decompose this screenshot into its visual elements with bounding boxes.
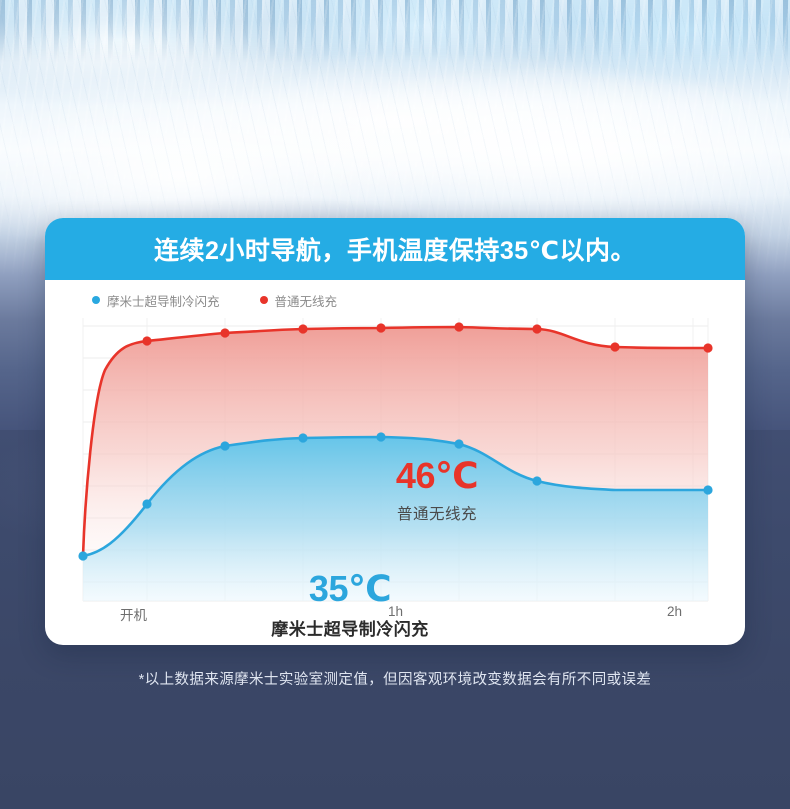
chart-x-axis: 开机 1h 2h (45, 604, 745, 634)
x-tick-label-2h: 2h (667, 604, 682, 619)
banner-header: 连续2小时导航，手机温度保持35℃以内。 (45, 218, 745, 280)
legend-label-red: 普通无线充 (275, 291, 338, 310)
legend-item-blue[interactable]: 摩米士超导制冷闪充 (92, 291, 220, 310)
chart-card: 连续2小时导航，手机温度保持35℃以内。 摩米士超导制冷闪充 普通无线充 (45, 218, 745, 645)
banner-title: 连续2小时导航，手机温度保持35℃以内。 (154, 231, 636, 267)
legend-dot-icon-blue (92, 296, 100, 304)
x-tick-label-start: 开机 (120, 604, 147, 624)
legend-label-blue: 摩米士超导制冷闪充 (107, 291, 220, 310)
x-tick-label-1h: 1h (388, 604, 403, 619)
temperature-line-chart (45, 318, 745, 603)
legend-dot-icon-red (260, 296, 268, 304)
footnote-disclaimer: *以上数据来源摩米士实验室测定值，但因客观环境改变数据会有所不同或误差 (0, 668, 790, 689)
chart-plot-area: 46℃ 普通无线充 35℃ 摩米士超导制冷闪充 (45, 318, 745, 603)
legend-item-red[interactable]: 普通无线充 (260, 291, 338, 310)
chart-legend: 摩米士超导制冷闪充 普通无线充 (45, 280, 745, 320)
page-stage: 连续2小时导航，手机温度保持35℃以内。 摩米士超导制冷闪充 普通无线充 (0, 0, 790, 809)
